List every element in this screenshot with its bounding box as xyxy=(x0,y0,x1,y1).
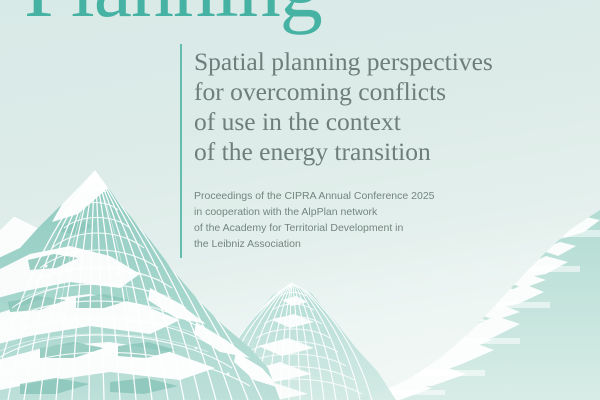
credits-line: in cooperation with the AlpPlan network xyxy=(194,204,435,220)
vertical-divider-rule xyxy=(180,44,182,258)
credits-block: Proceedings of the CIPRA Annual Conferen… xyxy=(194,188,435,252)
subtitle-block: Spatial planning perspectives for overco… xyxy=(194,47,493,167)
subtitle-line: of the energy transition xyxy=(194,137,493,167)
book-cover: Planning Spatial planning perspectives f… xyxy=(0,0,600,400)
subtitle-line: for overcoming conflicts xyxy=(194,77,493,107)
subtitle-line: of use in the context xyxy=(194,107,493,137)
subtitle-line: Spatial planning perspectives xyxy=(194,47,493,77)
page-title: Planning xyxy=(24,0,322,30)
credits-line: the Leibniz Association xyxy=(194,236,435,252)
credits-line: of the Academy for Territorial Developme… xyxy=(194,220,435,236)
credits-line: Proceedings of the CIPRA Annual Conferen… xyxy=(194,188,435,204)
